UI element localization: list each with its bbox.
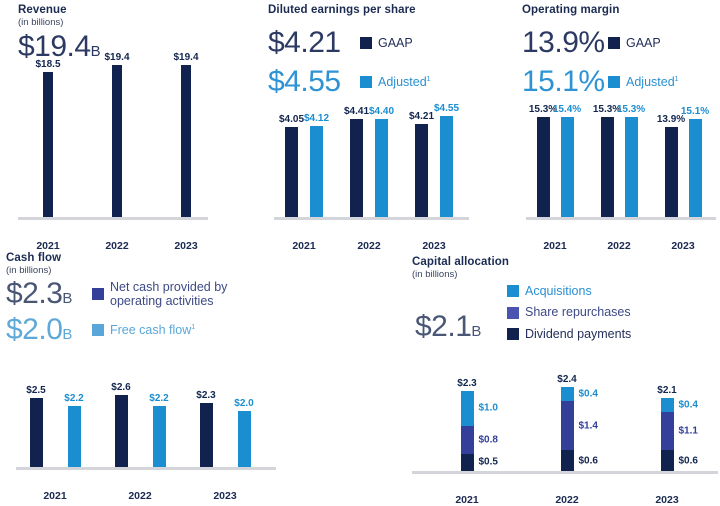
capital-legend-acquisitions: Acquisitions	[507, 284, 631, 298]
cashflow-legend-fcf: Free cash flow1	[92, 323, 195, 337]
bar-group: 15.3%15.3%2022	[594, 105, 644, 217]
bar-group: $0.6$1.1$0.4$2.12023	[650, 375, 684, 471]
capital-legend-repurchases: Share repurchases	[507, 305, 631, 319]
capital-legend-swatch-dividends	[507, 328, 519, 340]
bar: $2.3	[200, 403, 213, 467]
bar: $4.12	[310, 126, 323, 217]
bar-value-label: $2.6	[111, 382, 130, 393]
cashflow-legend-swatch-fcf	[92, 324, 104, 336]
margin-legend-adjusted: Adjusted1	[608, 75, 679, 89]
bar-group: $0.5$0.8$1.0$2.32021	[450, 375, 484, 471]
bar-total-label: $2.1	[657, 385, 676, 396]
cashflow-panel: Cash flow (in billions) $2.3B Net cash p…	[6, 252, 286, 345]
stacked-bar: $0.6$1.1$0.4$2.1	[661, 398, 674, 471]
revenue-axis	[18, 217, 208, 220]
eps-legend-label-gaap: GAAP	[378, 36, 413, 50]
cashflow-headline-fcf: $2.0B	[6, 315, 82, 345]
cashflow-legend-ocf: Net cash provided by operating activitie…	[92, 280, 250, 309]
bar: $2.2	[153, 406, 166, 467]
revenue-panel: Revenue (in billions) $19.4B $18.52021$1…	[18, 4, 248, 62]
x-axis-label: 2021	[36, 240, 59, 252]
cashflow-headline-ocf: $2.3B	[6, 279, 82, 309]
margin-legend-swatch-gaap	[608, 37, 620, 49]
eps-title: Diluted earnings per share	[268, 4, 478, 16]
margin-headline-gaap: 13.9%	[522, 28, 596, 58]
capital-panel: Capital allocation (in billions) Acquisi…	[412, 256, 718, 280]
margin-legend-label-adjusted: Adjusted1	[626, 75, 679, 89]
x-axis-label: 2023	[671, 240, 694, 252]
capital-subtitle: (in billions)	[412, 269, 718, 280]
bar-value-label: $4.55	[434, 103, 459, 114]
bar-group: $4.21$4.552023	[408, 105, 460, 217]
cashflow-legend-label-ocf: Net cash provided by operating activitie…	[110, 280, 250, 309]
eps-panel: Diluted earnings per share $4.21 GAAP $4…	[268, 4, 478, 97]
segment-value-label: $1.4	[579, 420, 598, 431]
capital-legend-label-dividends: Dividend payments	[525, 327, 631, 341]
capital-legend: Acquisitions Share repurchases Dividend …	[507, 284, 631, 341]
bar-segment: $0.8	[461, 426, 474, 454]
bar-value-label: $4.40	[369, 106, 394, 117]
x-axis-label: 2022	[105, 240, 128, 252]
bar-value-label: 15.1%	[681, 106, 709, 117]
stacked-bar: $0.6$1.4$0.4$2.4	[561, 387, 574, 471]
bar-total-label: $2.4	[557, 374, 576, 385]
segment-value-label: $0.5	[479, 457, 498, 468]
bar-segment: $0.6	[561, 450, 574, 471]
bar-group: $4.41$4.402022	[343, 105, 395, 217]
bar: $19.4	[112, 65, 122, 217]
capital-legend-dividends: Dividend payments	[507, 327, 631, 341]
margin-headline-adjusted: 15.1%	[522, 67, 596, 97]
x-axis-label: 2023	[655, 494, 678, 506]
eps-headline-row-gaap: $4.21 GAAP	[268, 28, 478, 58]
margin-legend-gaap: GAAP	[608, 36, 661, 50]
bar: $4.21	[415, 124, 428, 217]
eps-legend-gaap: GAAP	[360, 36, 413, 50]
capital-legend-swatch-repurchases	[507, 307, 519, 319]
bar-value-label: $2.0	[234, 398, 253, 409]
segment-value-label: $0.6	[579, 455, 598, 466]
margin-legend-label-gaap: GAAP	[626, 36, 661, 50]
revenue-subtitle: (in billions)	[18, 17, 248, 28]
capital-legend-swatch-acquisitions	[507, 285, 519, 297]
bar-value-label: $2.5	[26, 385, 45, 396]
bar: $2.0	[238, 411, 251, 467]
bar-segment: $0.4	[561, 387, 574, 401]
x-axis-label: 2021	[455, 494, 478, 506]
bar-group: $2.6$2.22022	[109, 385, 171, 467]
bar-segment: $0.6	[661, 450, 674, 471]
capital-chart: $0.5$0.8$1.0$2.32021$0.6$1.4$0.4$2.42022…	[412, 378, 718, 474]
bar: $4.55	[440, 116, 453, 217]
bar-segment: $1.4	[561, 401, 574, 450]
bar-segment: $1.0	[461, 391, 474, 426]
bar-value-label: $2.2	[64, 393, 83, 404]
bar: $4.40	[375, 119, 388, 217]
stacked-bar: $0.5$0.8$1.0$2.3	[461, 391, 474, 471]
eps-legend-label-adjusted: Adjusted1	[378, 75, 431, 89]
capital-legend-label-acquisitions: Acquisitions	[525, 284, 592, 298]
bar: 15.3%	[537, 117, 550, 217]
cashflow-title: Cash flow	[6, 252, 286, 264]
margin-chart: 15.3%15.4%202115.3%15.3%202213.9%15.1%20…	[526, 108, 716, 220]
eps-legend-swatch-gaap	[360, 37, 372, 49]
margin-panel: Operating margin 13.9% GAAP 15.1% Adjust…	[522, 4, 718, 97]
bar-value-label: $19.4	[173, 52, 198, 63]
bar-value-label: $4.41	[344, 106, 369, 117]
margin-legend-swatch-adjusted	[608, 76, 620, 88]
segment-value-label: $1.1	[679, 425, 698, 436]
segment-value-label: $0.4	[579, 389, 598, 400]
bar-group: $4.05$4.122021	[278, 105, 330, 217]
margin-title: Operating margin	[522, 4, 718, 16]
x-axis-label: 2022	[555, 494, 578, 506]
cashflow-legend-label-fcf: Free cash flow1	[110, 323, 195, 337]
x-axis-label: 2021	[292, 240, 315, 252]
eps-legend-adjusted: Adjusted1	[360, 75, 431, 89]
bar-value-label: $4.05	[279, 114, 304, 125]
x-axis-label: 2023	[174, 240, 197, 252]
bar: $2.6	[115, 395, 128, 467]
bar-group: $2.3$2.02023	[194, 385, 256, 467]
bar: $18.5	[43, 72, 53, 217]
bar-segment: $0.5	[461, 454, 474, 471]
bar: $2.2	[68, 406, 81, 467]
eps-headline-row-adjusted: $4.55 Adjusted1	[268, 67, 478, 97]
margin-headline-row-gaap: 13.9% GAAP	[522, 28, 718, 58]
bar: 15.3%	[601, 117, 614, 217]
bar-group: $19.42023	[166, 49, 206, 217]
bar-group: $0.6$1.4$0.4$2.42022	[550, 375, 584, 471]
segment-value-label: $0.4	[679, 399, 698, 410]
bar-group: 13.9%15.1%2023	[658, 105, 708, 217]
bar: $19.4	[181, 65, 191, 217]
bar-value-label: $4.21	[409, 111, 434, 122]
x-axis-label: 2023	[422, 240, 445, 252]
bar: 15.3%	[625, 117, 638, 217]
bar-segment: $0.4	[661, 398, 674, 412]
margin-axis	[526, 217, 716, 220]
eps-headline-adjusted: $4.55	[268, 67, 346, 97]
bar-group: $2.5$2.22021	[24, 385, 86, 467]
bar-value-label: 15.4%	[553, 104, 581, 115]
x-axis-label: 2022	[607, 240, 630, 252]
bar-value-label: $4.12	[304, 113, 329, 124]
bar: $4.05	[285, 127, 298, 217]
segment-value-label: $0.8	[479, 434, 498, 445]
bar: 15.4%	[561, 117, 574, 217]
bar: 15.1%	[689, 119, 702, 217]
bar: $2.5	[30, 398, 43, 467]
x-axis-label: 2021	[543, 240, 566, 252]
bar-value-label: $18.5	[35, 59, 60, 70]
bar: 13.9%	[665, 127, 678, 218]
eps-axis	[274, 217, 469, 220]
cashflow-headline-row-ocf: $2.3B Net cash provided by operating act…	[6, 279, 286, 309]
bar: $4.41	[350, 119, 363, 217]
cashflow-headline-row-fcf: $2.0B Free cash flow1	[6, 315, 286, 345]
bar-group: $18.52021	[28, 49, 68, 217]
bar-value-label: 15.3%	[617, 104, 645, 115]
bar-total-label: $2.3	[457, 378, 476, 389]
bar-group: $19.42022	[97, 49, 137, 217]
cashflow-chart: $2.5$2.22021$2.6$2.22022$2.3$2.02023	[16, 388, 276, 470]
segment-value-label: $0.6	[679, 455, 698, 466]
capital-axis	[412, 471, 718, 474]
capital-legend-label-repurchases: Share repurchases	[525, 305, 631, 319]
eps-legend-swatch-adjusted	[360, 76, 372, 88]
margin-headline-row-adjusted: 15.1% Adjusted1	[522, 67, 718, 97]
revenue-chart: $18.52021$19.42022$19.42023	[18, 52, 208, 220]
cashflow-subtitle: (in billions)	[6, 265, 286, 276]
bar-value-label: $19.4	[104, 52, 129, 63]
eps-chart: $4.05$4.122021$4.41$4.402022$4.21$4.5520…	[274, 108, 469, 220]
revenue-title: Revenue	[18, 4, 248, 16]
eps-headline-gaap: $4.21	[268, 28, 346, 58]
bar-segment: $1.1	[661, 412, 674, 450]
capital-title: Capital allocation	[412, 256, 718, 268]
cashflow-legend-swatch-ocf	[92, 288, 104, 300]
bar-value-label: $2.2	[149, 393, 168, 404]
segment-value-label: $1.0	[479, 403, 498, 414]
cashflow-axis	[16, 467, 276, 470]
x-axis-label: 2022	[357, 240, 380, 252]
bar-value-label: $2.3	[196, 390, 215, 401]
bar-group: 15.3%15.4%2021	[530, 105, 580, 217]
capital-headline: $2.1B	[415, 312, 481, 342]
